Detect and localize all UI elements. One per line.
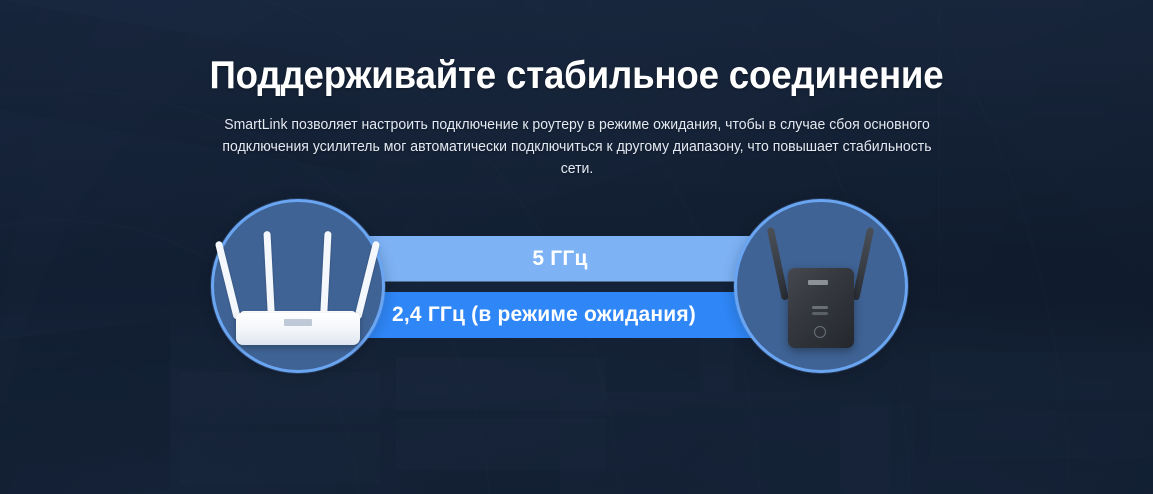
band-24ghz-label: 2,4 ГГц (в режиме ожидания) bbox=[392, 303, 696, 327]
extender-led-indicators bbox=[812, 306, 828, 309]
extender-antenna bbox=[852, 227, 874, 301]
extender-logo bbox=[808, 280, 828, 285]
router-antenna bbox=[263, 231, 275, 319]
extender-button bbox=[814, 326, 826, 338]
smartlink-banner: Поддерживайте стабильное соединение Smar… bbox=[0, 0, 1153, 494]
connection-diagram: 5 ГГц 2,4 ГГц (в режиме ожидания) bbox=[0, 0, 1153, 494]
wifi-extender-icon bbox=[760, 222, 882, 350]
band-5ghz-label: 5 ГГц bbox=[532, 247, 587, 271]
router-body bbox=[236, 313, 360, 345]
extender-antenna bbox=[767, 227, 789, 301]
router-logo bbox=[284, 319, 312, 326]
router-icon bbox=[228, 225, 368, 345]
router-antenna bbox=[320, 231, 332, 319]
